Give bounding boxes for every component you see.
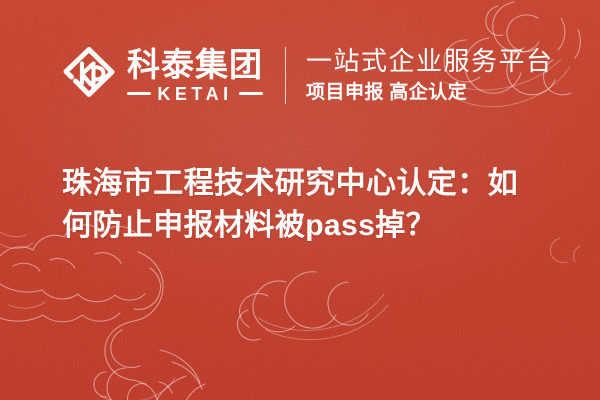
slogan-secondary: 项目申报 高企认定 (306, 83, 554, 104)
brand-name-en: KETAI (157, 85, 232, 103)
headline-title: 珠海市工程技术研究中心认定：如何防止申报材料被pass掉？ (62, 163, 544, 247)
brand-name-en-row: KETAI (127, 85, 263, 103)
cloud-right-small (550, 238, 580, 263)
promo-banner: 科泰集团 KETAI 一站式企业服务平台 项目申报 高企认定 珠海市工程技术研究… (0, 0, 600, 400)
wordmark-rule-right (239, 92, 263, 95)
cloud-mid-left (0, 225, 205, 400)
slogan-block: 一站式企业服务平台 项目申报 高企认定 (306, 47, 554, 104)
cloud-left-edge (0, 232, 33, 248)
ketai-diamond-kp-monogram-icon (62, 46, 116, 104)
brand-wordmark: 科泰集团 KETAI (127, 48, 263, 103)
cloud-bottom-left (94, 368, 175, 400)
wordmark-rule-left (127, 92, 151, 95)
header-divider (285, 47, 286, 104)
cloud-center-bottom (237, 272, 388, 340)
slogan-primary: 一站式企业服务平台 (306, 47, 554, 76)
brand-header: 科泰集团 KETAI 一站式企业服务平台 项目申报 高企认定 (62, 40, 554, 110)
brand-name-cn: 科泰集团 (127, 48, 263, 81)
